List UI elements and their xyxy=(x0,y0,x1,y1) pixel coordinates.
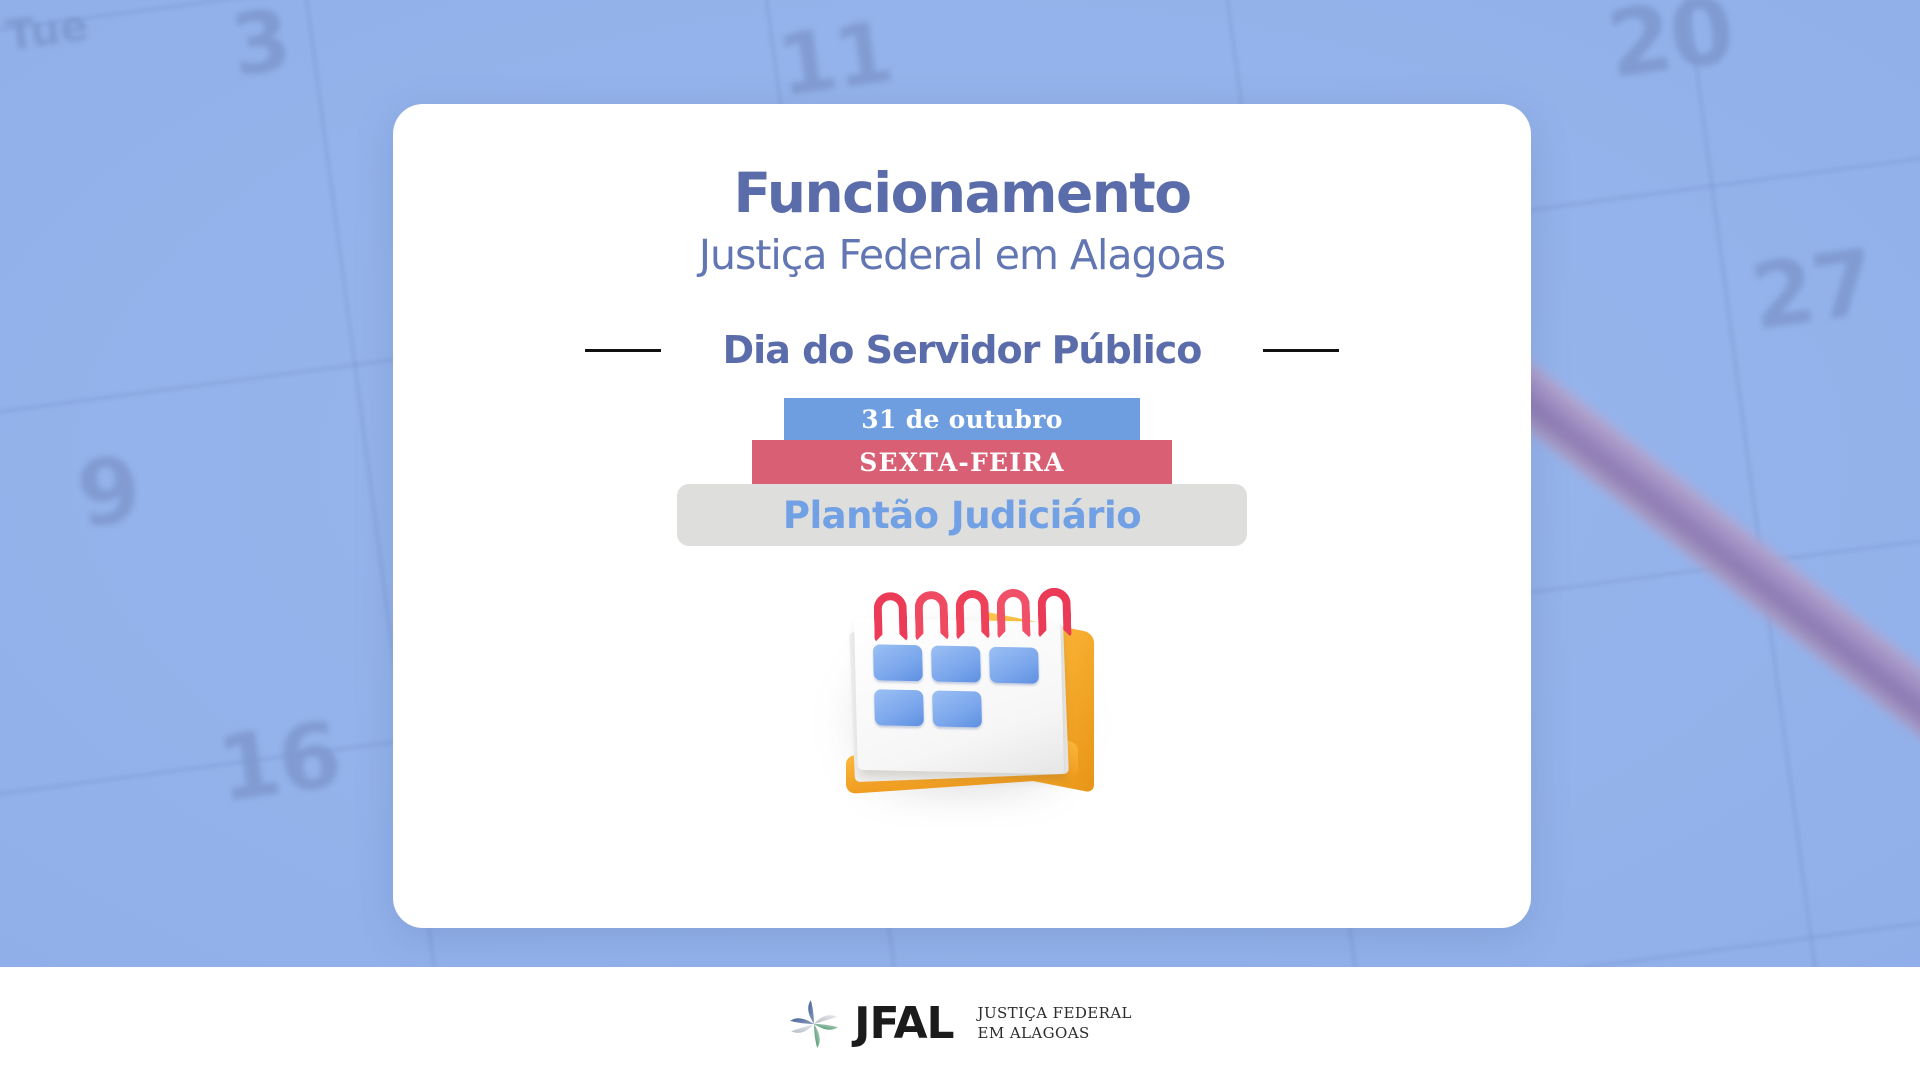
calendar-ring xyxy=(996,589,1030,640)
badge-stack: 31 de outubro SEXTA-FEIRA Plantão Judici… xyxy=(393,398,1531,546)
calendar-day-square xyxy=(989,647,1039,684)
decorative-rule-left xyxy=(585,349,661,352)
calendar-day-squares xyxy=(873,644,1041,728)
decorative-rule-right xyxy=(1263,349,1339,352)
jfal-pinwheel-icon xyxy=(788,998,840,1050)
calendar-ring xyxy=(955,590,989,641)
badge-weekday: SEXTA-FEIRA xyxy=(752,440,1172,484)
calendar-day-square xyxy=(873,644,923,681)
page-title: Funcionamento xyxy=(734,166,1191,221)
badge-date: 31 de outubro xyxy=(784,398,1140,440)
calendar-ring xyxy=(1037,587,1071,638)
calendar-spiral-rings xyxy=(873,587,1074,644)
poster-canvas: Tue 3 11 20 9 16 27 Funcionamento Justiç… xyxy=(0,0,1920,1080)
jfal-tagline: JUSTIÇA FEDERAL EM ALAGOAS xyxy=(978,1004,1132,1042)
page-subtitle: Justiça Federal em Alagoas xyxy=(699,235,1225,276)
calendar-ring xyxy=(873,592,907,643)
footer-bar: JFAL JUSTIÇA FEDERAL EM ALAGOAS xyxy=(0,967,1920,1080)
jfal-tagline-line1: JUSTIÇA FEDERAL xyxy=(978,1004,1132,1023)
calendar-icon xyxy=(812,580,1112,810)
content-card: Funcionamento Justiça Federal em Alagoas… xyxy=(393,104,1531,928)
badge-duty-status: Plantão Judiciário xyxy=(677,484,1247,546)
calendar-ring xyxy=(914,591,948,642)
jfal-logo: JFAL JUSTIÇA FEDERAL EM ALAGOAS xyxy=(788,998,1132,1050)
calendar-day-square xyxy=(874,689,924,726)
jfal-tagline-line2: EM ALAGOAS xyxy=(978,1024,1132,1043)
calendar-day-square xyxy=(931,645,981,682)
calendar-day-square xyxy=(932,690,982,727)
event-headline: Dia do Servidor Público xyxy=(723,328,1202,372)
jfal-wordmark: JFAL xyxy=(854,1002,953,1046)
headline-row: Dia do Servidor Público xyxy=(393,328,1531,372)
